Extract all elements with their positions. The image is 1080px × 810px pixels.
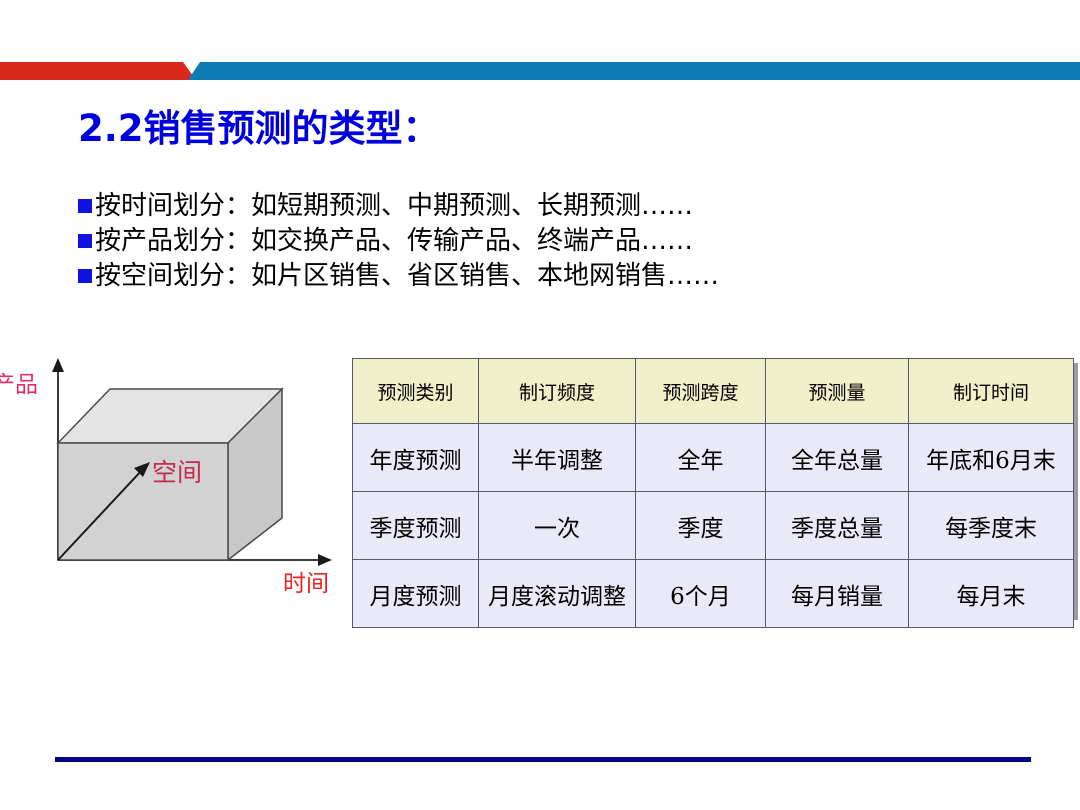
table-header-cell: 制订时间 — [909, 359, 1074, 424]
bullet-text: 按时间划分：如短期预测、中期预测、长期预测…… — [95, 191, 693, 221]
diagonal-axis-label: 空间 — [152, 453, 202, 489]
bullet-text: 按空间划分：如片区销售、省区销售、本地网销售…… — [95, 261, 719, 291]
table-header-row: 预测类别 制订频度 预测跨度 预测量 制订时间 — [353, 359, 1074, 424]
cube-front-face — [58, 443, 228, 560]
table-cell: 全年总量 — [766, 424, 909, 492]
table-row: 年度预测 半年调整 全年 全年总量 年底和6月末 — [353, 424, 1074, 492]
table-cell: 一次 — [479, 492, 636, 560]
cube-diagram: 产品 时间 空间 — [0, 352, 352, 612]
slide-title: 2.2销售预测的类型： — [78, 98, 440, 152]
table-row: 季度预测 一次 季度 季度总量 每季度末 — [353, 492, 1074, 560]
table-cell: 月度滚动调整 — [479, 560, 636, 628]
table-cell: 6个月 — [636, 560, 766, 628]
table-cell: 季度 — [636, 492, 766, 560]
x-axis-label: 时间 — [283, 564, 329, 598]
bullet-list: 按时间划分：如短期预测、中期预测、长期预测…… 按产品划分：如交换产品、传输产品… — [78, 188, 978, 293]
table-cell: 半年调整 — [479, 424, 636, 492]
footer-rule — [55, 757, 1031, 762]
table-header-cell: 预测量 — [766, 359, 909, 424]
table-cell: 季度总量 — [766, 492, 909, 560]
banner-red-segment — [0, 62, 196, 80]
table-header-cell: 制订频度 — [479, 359, 636, 424]
list-item: 按产品划分：如交换产品、传输产品、终端产品…… — [78, 223, 978, 258]
y-axis-label: 产品 — [0, 365, 38, 399]
forecast-table: 预测类别 制订频度 预测跨度 预测量 制订时间 年度预测 半年调整 全年 全年总… — [352, 358, 1074, 628]
y-axis-arrowhead — [52, 358, 64, 372]
square-bullet-icon — [78, 234, 92, 248]
list-item: 按时间划分：如短期预测、中期预测、长期预测…… — [78, 188, 978, 223]
square-bullet-icon — [78, 199, 92, 213]
table-cell: 月度预测 — [353, 560, 479, 628]
table-cell: 全年 — [636, 424, 766, 492]
list-item: 按空间划分：如片区销售、省区销售、本地网销售…… — [78, 258, 978, 293]
bullet-text: 按产品划分：如交换产品、传输产品、终端产品…… — [95, 226, 693, 256]
forecast-table-container: 预测类别 制订频度 预测跨度 预测量 制订时间 年度预测 半年调整 全年 全年总… — [352, 358, 1074, 616]
table-header-cell: 预测跨度 — [636, 359, 766, 424]
slide-canvas: 2.2销售预测的类型： 按时间划分：如短期预测、中期预测、长期预测…… 按产品划… — [0, 0, 1080, 810]
table-cell: 年底和6月末 — [909, 424, 1074, 492]
square-bullet-icon — [78, 269, 92, 283]
table-row: 月度预测 月度滚动调整 6个月 每月销量 每月末 — [353, 560, 1074, 628]
table-cell: 每月销量 — [766, 560, 909, 628]
table-cell: 每季度末 — [909, 492, 1074, 560]
table-cell: 每月末 — [909, 560, 1074, 628]
banner-blue-segment — [188, 62, 1080, 80]
top-banner — [0, 62, 1080, 80]
table-cell: 年度预测 — [353, 424, 479, 492]
table-cell: 季度预测 — [353, 492, 479, 560]
table-header-cell: 预测类别 — [353, 359, 479, 424]
